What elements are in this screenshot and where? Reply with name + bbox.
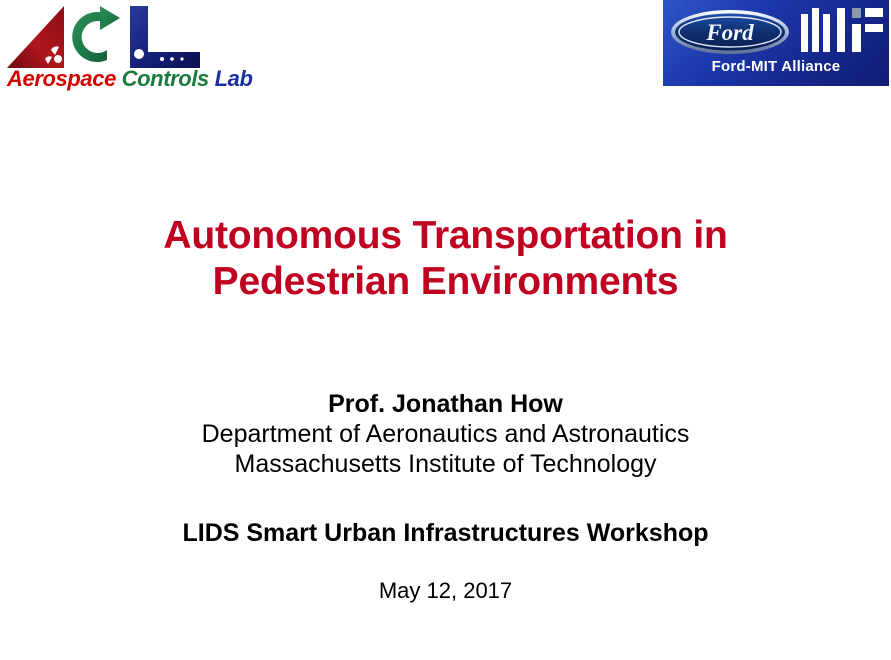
slide-title-line-2: Pedestrian Environments bbox=[0, 259, 891, 305]
slide-title: Autonomous Transportation in Pedestrian … bbox=[0, 213, 891, 305]
acl-wordmark-controls: Controls bbox=[122, 66, 215, 91]
acl-blue-corner-l-icon bbox=[130, 6, 200, 68]
ford-oval-icon: Ford bbox=[669, 8, 791, 56]
aerospace-controls-lab-logo: Aerospace Controls Lab bbox=[4, 2, 214, 98]
acl-wordmark: Aerospace Controls Lab bbox=[7, 68, 211, 90]
mit-logo-icon bbox=[799, 6, 885, 56]
author-name: Prof. Jonathan How bbox=[0, 389, 891, 419]
ford-wordmark: Ford bbox=[705, 20, 754, 45]
author-institution: Massachusetts Institute of Technology bbox=[0, 449, 891, 479]
event-block: LIDS Smart Urban Infrastructures Worksho… bbox=[0, 518, 891, 604]
acl-emblem-icon bbox=[4, 2, 214, 72]
ford-mit-alliance-logo: Ford Ford-MIT Alliance bbox=[663, 0, 889, 86]
acl-wordmark-aerospace: Aerospace bbox=[7, 66, 122, 91]
acl-green-arrow-c-icon bbox=[72, 6, 120, 62]
author-department: Department of Aeronautics and Astronauti… bbox=[0, 419, 891, 449]
author-affiliation-block: Prof. Jonathan How Department of Aeronau… bbox=[0, 389, 891, 479]
ford-mit-alliance-caption: Ford-MIT Alliance bbox=[663, 58, 889, 75]
acl-wordmark-lab: Lab bbox=[215, 66, 253, 91]
slide-title-line-1: Autonomous Transportation in bbox=[0, 213, 891, 259]
event-date: May 12, 2017 bbox=[0, 578, 891, 604]
event-name: LIDS Smart Urban Infrastructures Worksho… bbox=[0, 518, 891, 548]
acl-red-triangle-icon bbox=[7, 6, 64, 68]
presentation-title-slide: Aerospace Controls Lab Ford bbox=[0, 0, 891, 660]
